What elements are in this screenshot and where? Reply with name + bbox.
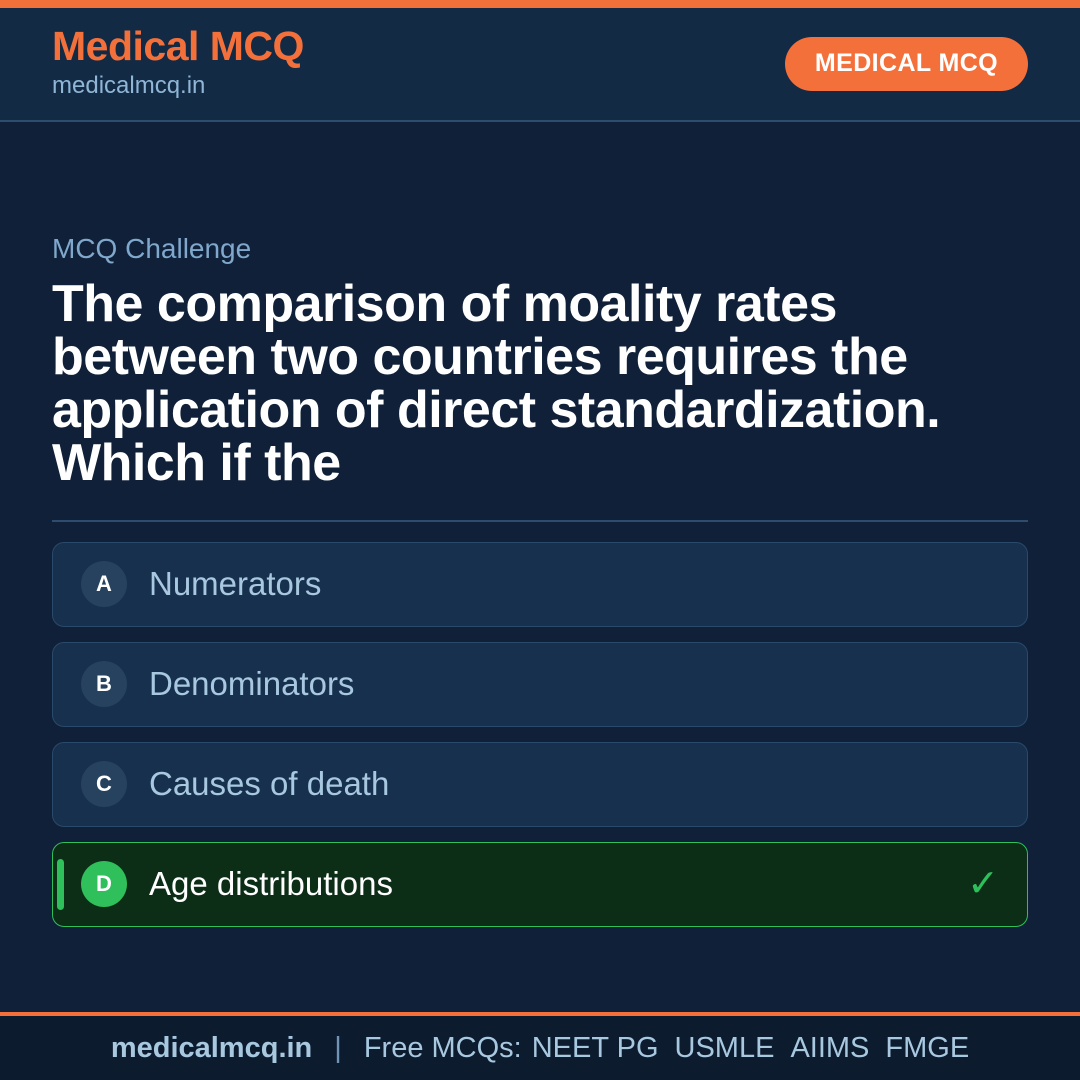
option-letter-badge: C	[81, 761, 127, 807]
footer-content: medicalmcq.in | Free MCQs: NEET PG USMLE…	[111, 1032, 969, 1065]
option-label: Causes of death	[149, 766, 987, 802]
section-divider	[52, 520, 1028, 522]
option-c[interactable]: C Causes of death	[52, 742, 1028, 827]
top-accent-bar	[0, 0, 1080, 8]
footer-tag-usmle[interactable]: USMLE	[675, 1032, 775, 1065]
header-badge: MEDICAL MCQ	[785, 37, 1028, 91]
options-list: A Numerators B Denominators C Causes of …	[52, 542, 1028, 927]
footer-tag-aiims[interactable]: AIIMS	[790, 1032, 869, 1065]
page-footer: medicalmcq.in | Free MCQs: NEET PG USMLE…	[0, 1012, 1080, 1080]
footer-tag-fmge[interactable]: FMGE	[885, 1032, 969, 1065]
eyebrow-label: MCQ Challenge	[52, 232, 1028, 266]
check-icon: ✓	[967, 865, 999, 903]
option-letter-badge: B	[81, 661, 127, 707]
option-a[interactable]: A Numerators	[52, 542, 1028, 627]
brand-title: Medical MCQ	[52, 25, 304, 68]
option-b[interactable]: B Denominators	[52, 642, 1028, 727]
option-label: Numerators	[149, 566, 987, 602]
option-label: Age distributions	[149, 866, 955, 902]
option-letter-badge: A	[81, 561, 127, 607]
footer-tag-neet-pg[interactable]: NEET PG	[532, 1032, 659, 1065]
option-d[interactable]: D Age distributions ✓	[52, 842, 1028, 927]
footer-site-link[interactable]: medicalmcq.in	[111, 1032, 312, 1065]
page-header: Medical MCQ medicalmcq.in MEDICAL MCQ	[0, 8, 1080, 122]
footer-separator: |	[334, 1032, 342, 1065]
footer-label: Free MCQs:	[364, 1032, 522, 1065]
brand-subtitle: medicalmcq.in	[52, 70, 304, 102]
option-letter-badge: D	[81, 861, 127, 907]
brand: Medical MCQ medicalmcq.in	[52, 25, 304, 102]
mcq-card-page: Medical MCQ medicalmcq.in MEDICAL MCQ MC…	[0, 0, 1080, 1080]
option-label: Denominators	[149, 666, 987, 702]
correct-accent-bar	[57, 859, 64, 910]
question-text: The comparison of moality rates between …	[52, 278, 1012, 490]
main-content: MCQ Challenge The comparison of moality …	[0, 122, 1080, 1012]
